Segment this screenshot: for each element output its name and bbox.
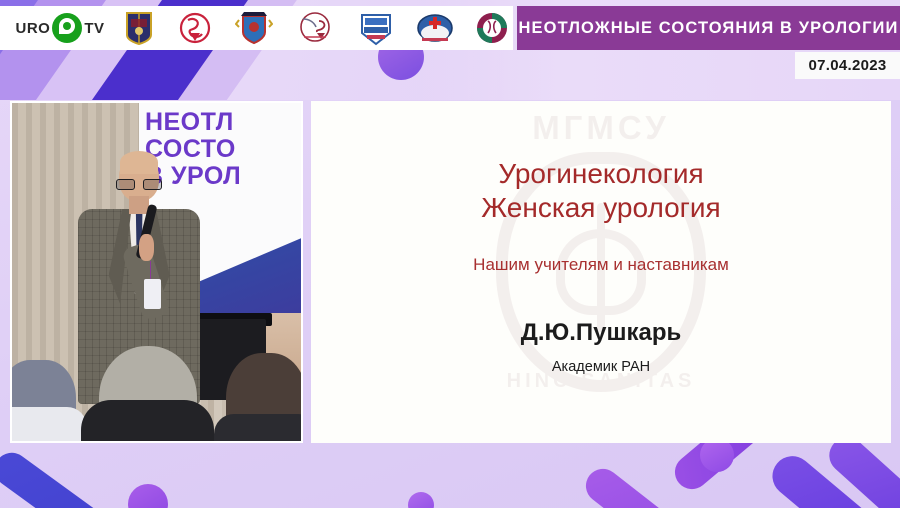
university-emblem-icon — [295, 11, 335, 45]
circular-ring-emblem-logo — [464, 8, 520, 48]
banner-line-1: НЕОТЛ — [145, 109, 241, 136]
audience-body-left — [12, 407, 87, 441]
speaker-glasses — [116, 179, 162, 190]
speaker-role: Академик РАН — [311, 359, 891, 375]
speaker-name-badge — [144, 279, 161, 309]
audience-body-right — [214, 414, 301, 441]
shield-badge-icon — [357, 10, 395, 46]
event-title: НЕОТЛОЖНЫЕ СОСТОЯНИЯ В УРОЛОГИИ — [519, 19, 899, 38]
coat-of-arms-icon — [235, 10, 273, 46]
video-inner: НЕОТЛ СОСТО В УРОЛ — [12, 103, 301, 441]
speaker-name: Д.Ю.Пушкарь — [311, 319, 891, 347]
event-date: 07.04.2023 — [808, 57, 886, 74]
presentation-slide[interactable]: МГМСУ HINC SANITAS Урогинекология Женска… — [311, 101, 891, 443]
medical-university-emblem-logo — [284, 8, 346, 48]
presentation-stage: URO TV — [0, 0, 900, 508]
bowl-serpent-icon — [177, 11, 213, 45]
rostgmu-shield-badge-logo — [346, 8, 406, 48]
slide-content: Урогинекология Женская урология Нашим уч… — [311, 101, 891, 375]
decor-circle-right — [700, 438, 734, 472]
urotv-text-right: TV — [84, 20, 104, 37]
slide-title-line-2: Женская урология — [311, 191, 891, 225]
bowl-serpent-red-logo — [166, 8, 224, 48]
speaker-video-feed[interactable]: НЕОТЛ СОСТО В УРОЛ — [10, 101, 303, 443]
ring-emblem-icon — [475, 11, 509, 45]
event-date-box: 07.04.2023 — [795, 52, 900, 79]
audience-body-center — [81, 400, 214, 441]
decor-circle-left — [128, 484, 168, 508]
heraldic-shield-icon — [125, 11, 153, 45]
speaker-hand — [139, 234, 154, 262]
event-title-bar: НЕОТЛОЖНЫЕ СОСТОЯНИЯ В УРОЛОГИИ — [517, 6, 900, 50]
rostov-coat-of-arms-logo — [224, 8, 284, 48]
urotv-text-left: URO — [15, 20, 50, 37]
speaker-head-top — [120, 151, 158, 174]
urotv-leaf-icon — [52, 13, 82, 43]
slide-title-line-1: Урогинекология — [311, 157, 891, 191]
sponsor-logo-bar: URO TV — [0, 6, 513, 50]
slide-title: Урогинекология Женская урология — [311, 157, 891, 225]
red-cross-oval-icon — [416, 13, 454, 43]
urotv-logo: URO TV — [0, 8, 112, 48]
heraldic-shield-logo — [112, 8, 166, 48]
slide-dedication: Нашим учителям и наставникам — [311, 255, 891, 275]
red-cross-oval-badge-logo — [406, 8, 464, 48]
decor-circle-center — [408, 492, 434, 508]
